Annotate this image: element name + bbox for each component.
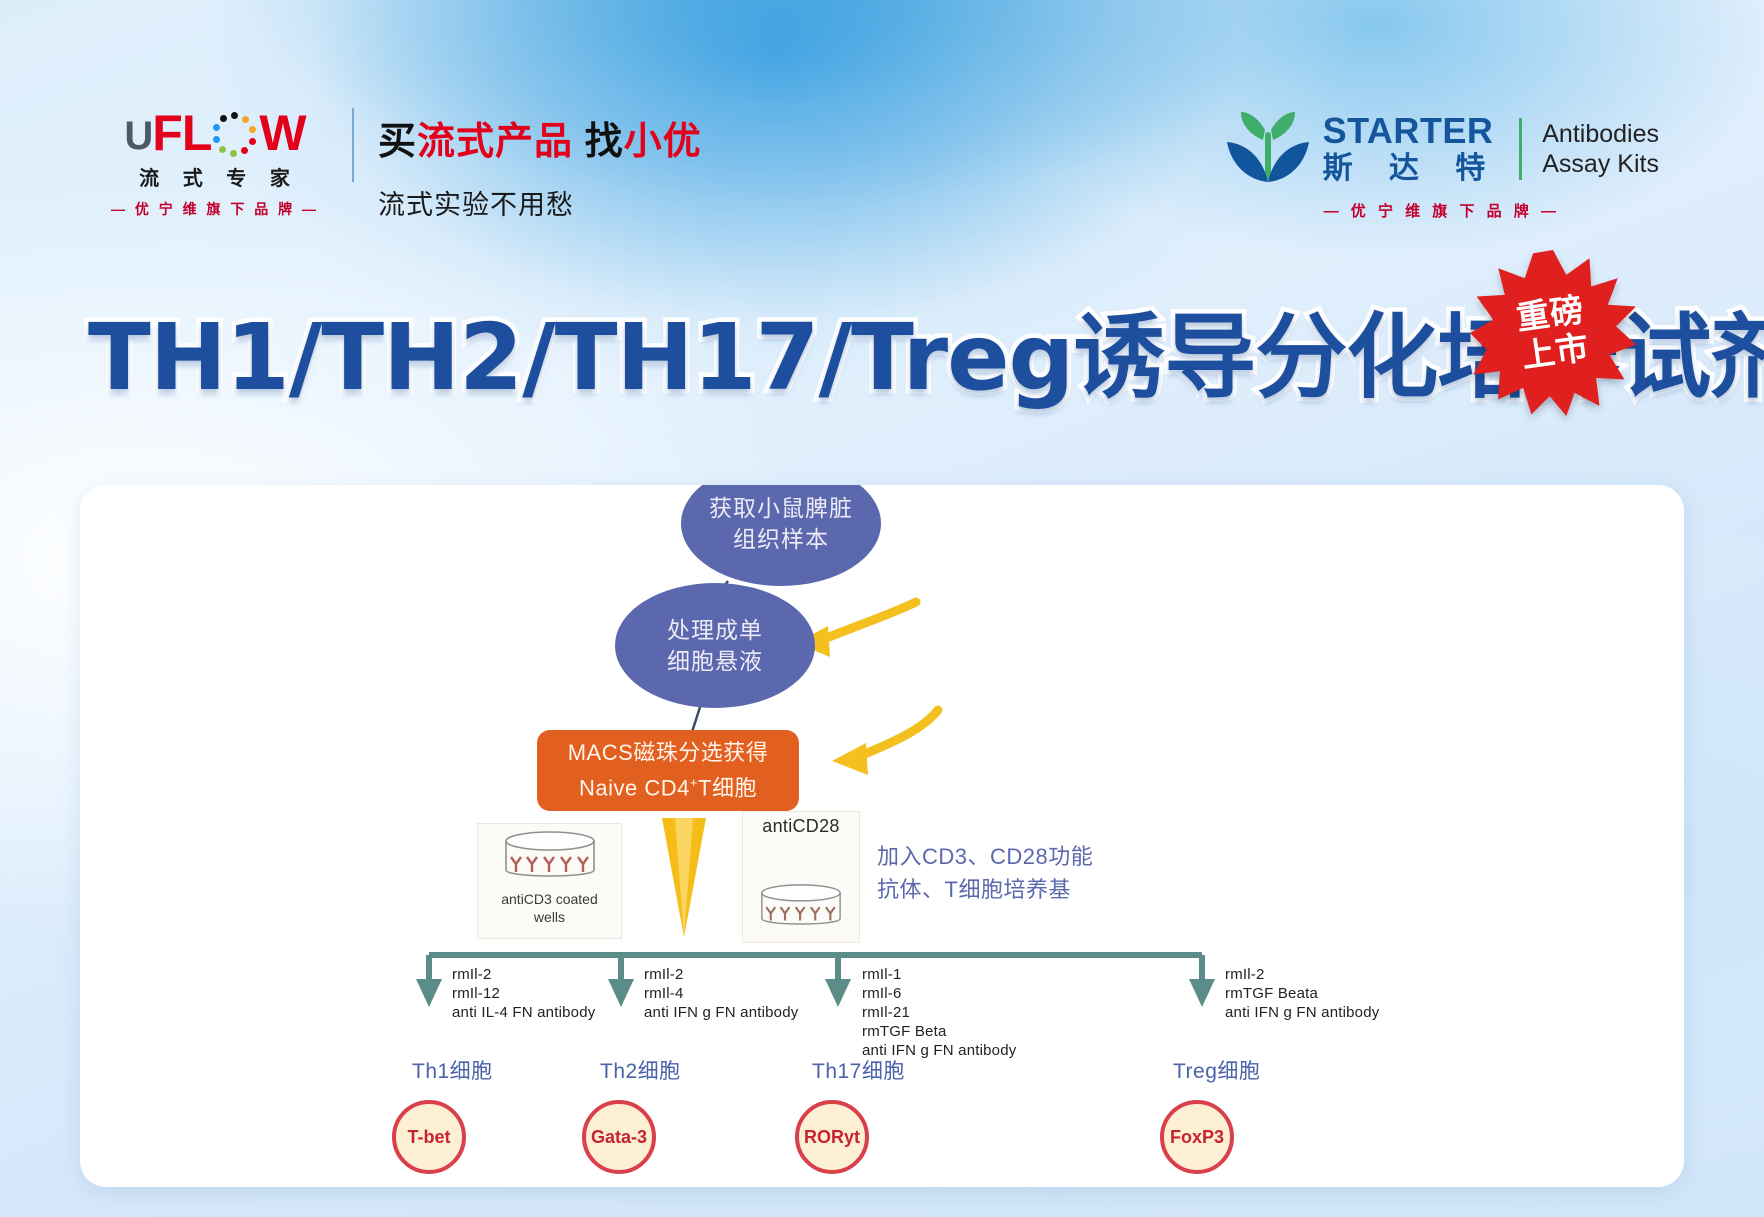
workflow-diagram: 获取小鼠脾脏 组织样本 处理成单 细胞悬液 MACS磁珠分选获得 Naive C… (80, 485, 1684, 1187)
uflow-letter-u: U (124, 111, 152, 161)
cell-label-treg: Treg细胞 (1173, 1055, 1260, 1085)
yellow-arrow-2-shaft (858, 710, 938, 757)
cell-label-th2: Th2细胞 (600, 1055, 681, 1085)
starter-name-en: STARTER (1323, 113, 1500, 149)
branch-reagents-th17: rmIl-1 rmIl-6 rmIl-21 rmTGF Beta anti IF… (862, 965, 1016, 1060)
starter-logo: STARTER 斯 达 特 Antibodies Assay Kits — 优 … (1225, 110, 1659, 230)
uflow-letters-fl: FL (152, 108, 211, 158)
uflow-wordmark: UFL W (106, 108, 324, 158)
starter-vertical-rule (1519, 118, 1522, 180)
uflow-logo: UFL W 流 式 专 家 — 优 宁 维 旗 下 品 牌 — (106, 108, 324, 219)
header-slogan-secondary: 流式实验不用愁 (378, 183, 574, 222)
content-card: 获取小鼠脾脏 组织样本 处理成单 细胞悬液 MACS磁珠分选获得 Naive C… (80, 485, 1684, 1187)
tf-circle-foxp3: FoxP3 (1160, 1100, 1234, 1174)
uflow-subtitle: 流 式 专 家 (106, 162, 324, 191)
node-single-cell-suspension: 处理成单 细胞悬液 (615, 583, 815, 708)
macs-line2-pre: Naive CD4 (579, 775, 690, 800)
uflow-letter-w: W (259, 108, 305, 158)
branch-arrow-3 (825, 979, 851, 1007)
badge-text: 重磅 上市 (1459, 239, 1646, 426)
yellow-arrow-1-shaft (822, 602, 916, 640)
slogan-part-2: 流式产品 (417, 121, 573, 163)
header-divider (352, 108, 354, 182)
node-spleen-line2: 组织样本 (733, 524, 829, 555)
plate-anticd28: antiCD28 (742, 811, 860, 943)
new-launch-badge: 重磅 上市 (1470, 250, 1636, 416)
tf-circle-roryt: RORyt (795, 1100, 869, 1174)
node-spleen-sample: 获取小鼠脾脏 组织样本 (681, 485, 881, 586)
plate-anticd3-caption: antiCD3 coated wells (501, 890, 598, 926)
cell-label-th1: Th1细胞 (412, 1055, 493, 1085)
plate-anticd28-label: antiCD28 (762, 816, 839, 837)
well-plate-icon (496, 830, 604, 886)
culture-note-line2: 抗体、T细胞培养基 (877, 873, 1093, 906)
yellow-funnel-icon (662, 818, 706, 937)
well-plate-icon-2 (753, 883, 849, 933)
sprout-icon (1225, 110, 1311, 188)
macs-line1: MACS磁珠分选获得 (568, 738, 769, 768)
starter-name-cn: 斯 达 特 (1323, 152, 1500, 186)
uflow-ring-icon (212, 112, 258, 158)
starter-brand-line: — 优 宁 维 旗 下 品 牌 — (1225, 200, 1659, 221)
uflow-brand-line: — 优 宁 维 旗 下 品 牌 — (106, 199, 324, 219)
node-suspension-line2: 细胞悬液 (667, 646, 763, 677)
cell-label-th17: Th17细胞 (812, 1055, 905, 1085)
plate-anticd3-caption-line2: wells (501, 908, 598, 926)
starter-tagline-line1: Antibodies (1542, 119, 1659, 149)
tf-circle-tbet: T-bet (392, 1100, 466, 1174)
branch-arrow-2 (608, 979, 634, 1007)
plate-anticd3-caption-line1: antiCD3 coated (501, 890, 598, 908)
header-slogan-primary: 买流式产品 找小优 (378, 110, 702, 165)
branch-reagents-treg: rmIl-2 rmTGF Beata anti IFN g FN antibod… (1225, 965, 1379, 1022)
branch-reagents-th2: rmIl-2 rmIl-4 anti IFN g FN antibody (644, 965, 798, 1022)
tf-circle-gata3: Gata-3 (582, 1100, 656, 1174)
node-macs-selection: MACS磁珠分选获得 Naive CD4+T细胞 (537, 730, 799, 811)
slogan-part-4: 小优 (624, 121, 702, 163)
page-header: UFL W 流 式 专 家 — 优 宁 维 旗 下 品 牌 — 买流式产品 找小… (0, 0, 1764, 250)
macs-line2-post: T细胞 (698, 775, 757, 800)
branch-arrow-1 (416, 979, 442, 1007)
culture-note: 加入CD3、CD28功能 抗体、T细胞培养基 (877, 840, 1093, 906)
macs-line2-sup: + (690, 775, 698, 790)
badge-line-2: 上市 (1519, 328, 1592, 375)
slogan-part-1: 买 (378, 121, 417, 163)
branch-reagents-th1: rmIl-2 rmIl-12 anti IL-4 FN antibody (452, 965, 595, 1022)
node-suspension-line1: 处理成单 (667, 615, 763, 646)
yellow-arrow-2-head (832, 743, 868, 775)
branch-arrow-4 (1189, 979, 1215, 1007)
connector-n2-n3 (692, 704, 701, 732)
plate-anticd3: antiCD3 coated wells (477, 823, 622, 939)
slogan-part-3: 找 (573, 121, 624, 163)
starter-tagline-line2: Assay Kits (1542, 149, 1659, 179)
node-spleen-line1: 获取小鼠脾脏 (709, 493, 853, 524)
culture-note-line1: 加入CD3、CD28功能 (877, 840, 1093, 873)
macs-line2: Naive CD4+T细胞 (579, 768, 757, 803)
